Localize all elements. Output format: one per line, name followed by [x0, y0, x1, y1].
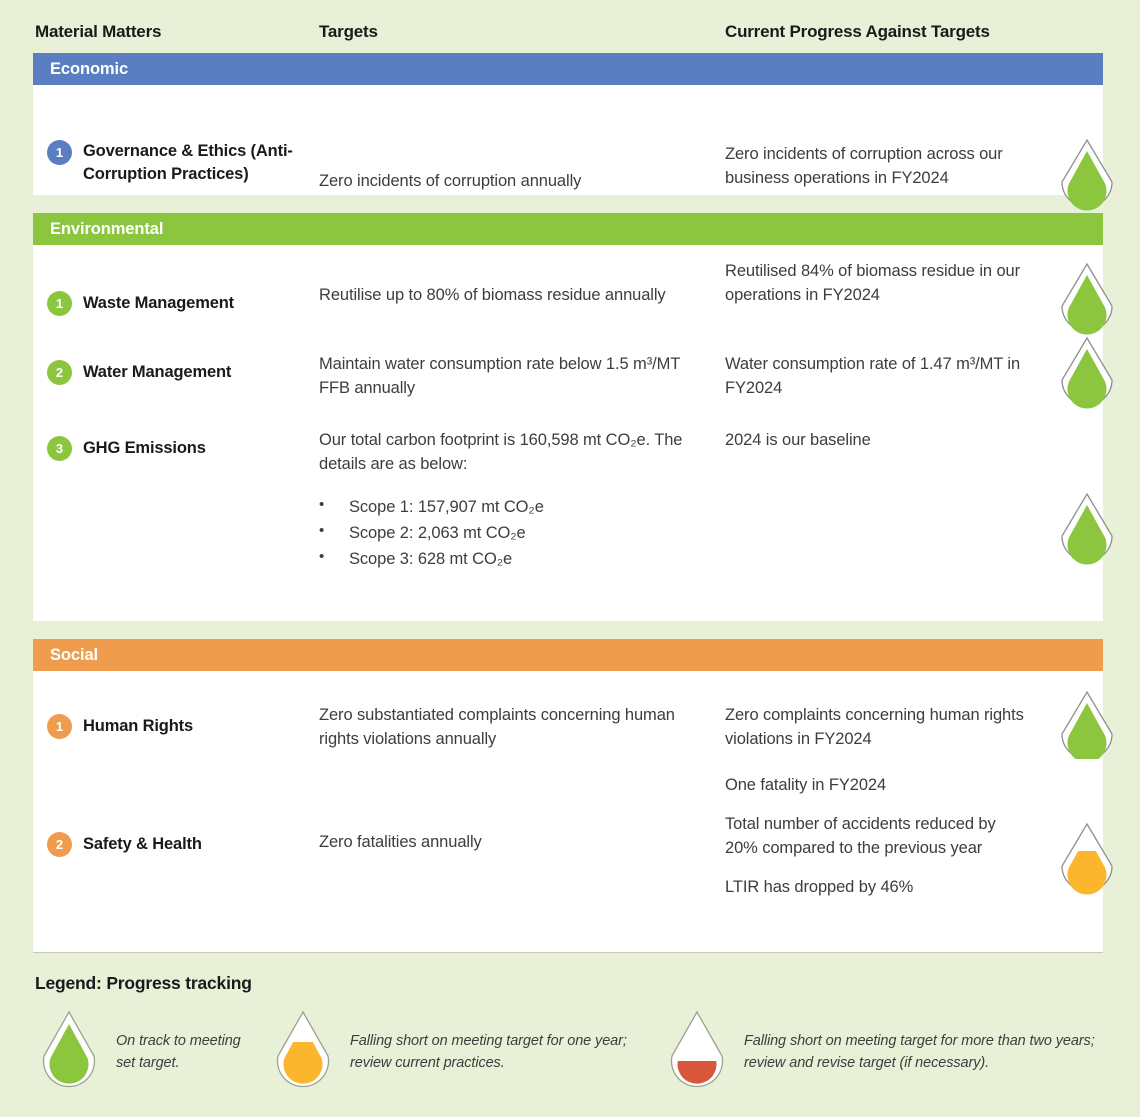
cell-progress: Zero incidents of corruption across our … — [725, 85, 1037, 195]
legend-divider — [33, 952, 1103, 953]
cell-material-matter: 1 Waste Management — [33, 245, 319, 337]
progress-text: Reutilised 84% of biomass residue in our… — [725, 245, 1027, 307]
list-item: Scope 3: 628 mt CO₂e — [349, 546, 707, 572]
progress-paragraph: LTIR has dropped by 46% — [725, 875, 1027, 899]
cell-material-matter: 3 GHG Emissions — [33, 413, 319, 621]
column-header-targets: Targets — [319, 22, 378, 42]
table-row: 1 Waste Management Reutilise up to 80% o… — [33, 245, 1103, 337]
cell-target: Reutilise up to 80% of biomass residue a… — [319, 245, 725, 337]
table-row: 2 Water Management Maintain water consum… — [33, 337, 1103, 413]
progress-paragraph: Total number of accidents reduced by 20%… — [725, 812, 1027, 860]
cell-progress: 2024 is our baseline — [725, 413, 1037, 621]
droplet-partial-amber-icon — [1055, 821, 1119, 903]
droplet-full-green-icon — [1055, 335, 1119, 417]
table-row: 1 Governance & Ethics (Anti-Corruption P… — [33, 85, 1103, 195]
legend-text: On track to meeting set target. — [116, 1030, 241, 1074]
legend-items: On track to meeting set target. Falling … — [33, 1004, 1107, 1104]
cell-status-icon — [1037, 85, 1103, 195]
cell-material-matter: 1 Human Rights — [33, 671, 319, 759]
cell-progress: One fatality in FY2024 Total number of a… — [725, 759, 1037, 952]
cell-material-matter: 2 Safety & Health — [33, 759, 319, 952]
cell-target: Maintain water consumption rate below 1.… — [319, 337, 725, 413]
table-row: 2 Safety & Health Zero fatalities annual… — [33, 759, 1103, 952]
row-number-badge: 3 — [47, 436, 72, 461]
legend-line: review current practices. — [350, 1052, 627, 1074]
column-header-progress: Current Progress Against Targets — [725, 22, 990, 42]
material-matter-title: Waste Management — [83, 292, 313, 315]
material-matter-title: Human Rights — [83, 715, 313, 738]
cell-target: Zero fatalities annually — [319, 759, 725, 952]
legend-line: Falling short on meeting target for one … — [350, 1030, 627, 1052]
material-matter-title: Governance & Ethics (Anti-Corruption Pra… — [83, 140, 313, 187]
section-header-economic: Economic — [33, 53, 1103, 85]
cell-target: Zero substantiated complaints concerning… — [319, 671, 725, 759]
material-matter-title: Safety & Health — [83, 833, 313, 856]
legend-line: On track to meeting — [116, 1030, 241, 1052]
droplet-partial-amber-icon — [271, 1009, 335, 1095]
row-number-badge: 2 — [47, 360, 72, 385]
cell-status-icon — [1037, 245, 1103, 337]
list-item: Scope 2: 2,063 mt CO₂e — [349, 520, 707, 546]
legend-item-falling-short-one-year: Falling short on meeting target for one … — [271, 1004, 671, 1100]
row-number-badge: 1 — [47, 714, 72, 739]
section-social: Social 1 Human Rights Zero substantiated… — [33, 639, 1103, 952]
target-text: Reutilise up to 80% of biomass residue a… — [319, 245, 707, 307]
cell-material-matter: 1 Governance & Ethics (Anti-Corruption P… — [33, 85, 319, 195]
section-header-social: Social — [33, 639, 1103, 671]
progress-text: One fatality in FY2024 Total number of a… — [725, 759, 1027, 899]
droplet-full-green-icon — [1055, 137, 1119, 219]
legend-title: Legend: Progress tracking — [35, 973, 252, 994]
progress-paragraph: One fatality in FY2024 — [725, 773, 1027, 797]
cell-material-matter: 2 Water Management — [33, 337, 319, 413]
row-number-badge: 1 — [47, 291, 72, 316]
cell-progress: Reutilised 84% of biomass residue in our… — [725, 245, 1037, 337]
target-text: Zero incidents of corruption annually — [319, 85, 707, 193]
target-text: Our total carbon footprint is 160,598 mt… — [319, 413, 707, 476]
list-item: Scope 1: 157,907 mt CO₂e — [349, 494, 707, 520]
progress-text: 2024 is our baseline — [725, 413, 1027, 452]
cell-progress: Zero complaints concerning human rights … — [725, 671, 1037, 759]
table-row: 3 GHG Emissions Our total carbon footpri… — [33, 413, 1103, 621]
droplet-full-green-icon — [1055, 491, 1119, 573]
row-number-badge: 1 — [47, 140, 72, 165]
target-text: Maintain water consumption rate below 1.… — [319, 337, 707, 400]
table-row: 1 Human Rights Zero substantiated compla… — [33, 671, 1103, 759]
section-economic: Economic 1 Governance & Ethics (Anti-Cor… — [33, 53, 1103, 195]
sustainability-progress-table: Material Matters Targets Current Progres… — [0, 0, 1140, 1117]
section-label-social: Social — [50, 646, 98, 665]
legend-line: review and revise target (if necessary). — [744, 1052, 1095, 1074]
target-text: Zero fatalities annually — [319, 759, 707, 854]
section-header-environmental: Environmental — [33, 213, 1103, 245]
legend-text: Falling short on meeting target for more… — [744, 1030, 1095, 1074]
droplet-partial-red-icon — [665, 1009, 729, 1095]
scope-list: Scope 1: 157,907 mt CO₂e Scope 2: 2,063 … — [319, 494, 707, 572]
legend-item-falling-short-two-years: Falling short on meeting target for more… — [665, 1004, 1135, 1100]
cell-target: Zero incidents of corruption annually — [319, 85, 725, 195]
table-column-headers: Material Matters Targets Current Progres… — [33, 20, 1103, 50]
section-label-economic: Economic — [50, 60, 128, 79]
cell-status-icon — [1037, 413, 1103, 621]
column-header-material-matters: Material Matters — [35, 22, 161, 42]
cell-status-icon — [1037, 671, 1103, 759]
legend-line: set target. — [116, 1052, 241, 1074]
material-matter-title: GHG Emissions — [83, 437, 313, 460]
droplet-full-green-icon — [1055, 261, 1119, 343]
section-environmental: Environmental 1 Waste Management Reutili… — [33, 213, 1103, 621]
droplet-full-green-icon — [37, 1009, 101, 1095]
material-matter-title: Water Management — [83, 361, 313, 384]
cell-target: Our total carbon footprint is 160,598 mt… — [319, 413, 725, 621]
legend-line: Falling short on meeting target for more… — [744, 1030, 1095, 1052]
cell-status-icon — [1037, 337, 1103, 413]
progress-text: Zero incidents of corruption across our … — [725, 85, 1027, 190]
cell-progress: Water consumption rate of 1.47 m³/MT in … — [725, 337, 1037, 413]
cell-status-icon — [1037, 759, 1103, 952]
section-label-environmental: Environmental — [50, 220, 163, 239]
progress-text: Water consumption rate of 1.47 m³/MT in … — [725, 337, 1027, 400]
progress-text: Zero complaints concerning human rights … — [725, 671, 1037, 751]
legend-text: Falling short on meeting target for one … — [350, 1030, 627, 1074]
target-text: Zero substantiated complaints concerning… — [319, 671, 707, 751]
row-number-badge: 2 — [47, 832, 72, 857]
